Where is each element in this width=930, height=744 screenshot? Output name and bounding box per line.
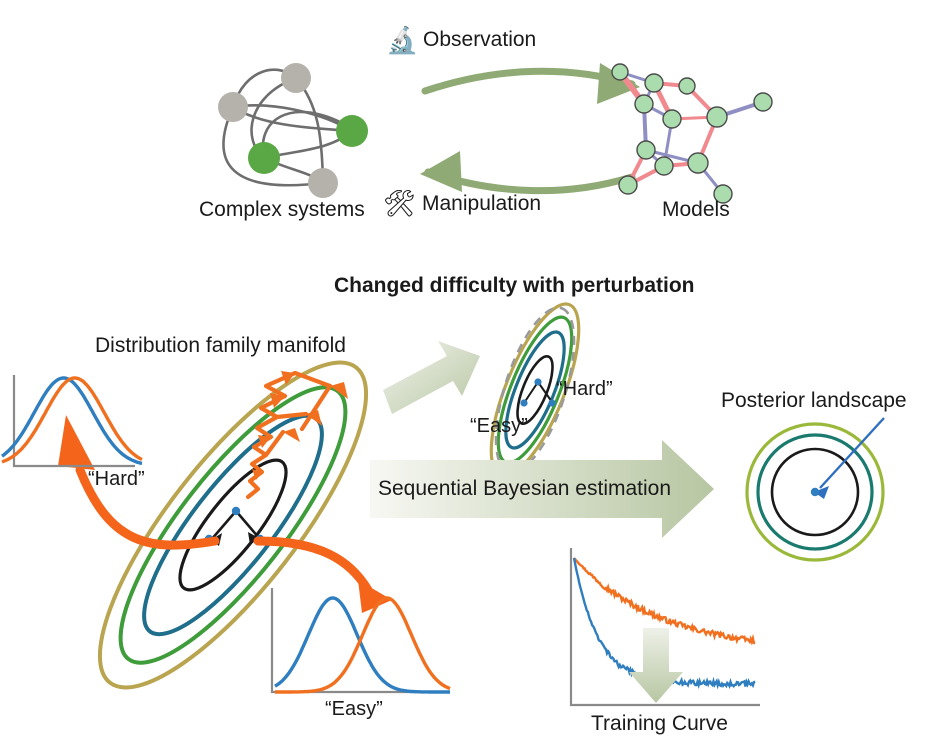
model-node — [707, 107, 727, 127]
model-node — [612, 64, 628, 80]
complex-systems-label: Complex systems — [199, 198, 365, 222]
manipulation-label: Manipulation — [422, 192, 541, 216]
bayes-arrow-label: Sequential Bayesian estimation — [378, 477, 671, 501]
manipulation-arrow — [420, 151, 632, 192]
hard-plot-label: “Hard” — [88, 468, 145, 491]
posterior-title: Posterior landscape — [721, 389, 907, 413]
perturb-point — [520, 399, 527, 406]
complex-node — [218, 92, 248, 122]
model-node — [655, 157, 673, 175]
model-node — [637, 141, 655, 159]
complex-node — [336, 115, 368, 147]
perturbation-title: Changed difficulty with perturbation — [334, 274, 695, 298]
perturbation-arrow — [383, 341, 480, 414]
perturbation-hard-label: “Hard” — [556, 378, 613, 401]
model-node — [688, 153, 708, 173]
model-node — [754, 93, 772, 111]
models-label: Models — [662, 198, 730, 222]
model-node — [663, 110, 681, 128]
model-node — [635, 95, 653, 113]
manifold-ring-green — [87, 359, 378, 691]
perturb-point — [534, 378, 541, 385]
hammer-and-wrench-icon: 🛠 — [383, 190, 416, 216]
figure-canvas: 🔬 Observation 🛠 Manipulation Complex sys… — [0, 0, 930, 744]
manifold-title: Distribution family manifold — [95, 334, 346, 358]
microscope-icon: 🔬 — [386, 27, 418, 53]
posterior-center-dot — [811, 488, 819, 496]
diagram-svg — [0, 0, 930, 744]
posterior-landscape — [747, 418, 884, 560]
model-node — [619, 176, 637, 194]
easy-plot-label: “Easy” — [325, 698, 383, 721]
training-curve-down-arrow — [629, 628, 683, 703]
complex-systems-network — [218, 63, 368, 198]
training-curve-title: Training Curve — [591, 712, 728, 736]
complex-node — [308, 168, 338, 198]
perturbation-easy-label: “Easy” — [470, 415, 528, 438]
perturb-point — [548, 399, 555, 406]
complex-node — [248, 142, 280, 174]
observation-arrow — [425, 63, 640, 104]
training-curve-plot — [571, 548, 760, 705]
complex-node — [281, 63, 311, 93]
observation-label: Observation — [423, 28, 536, 52]
complex-systems-nodes — [218, 63, 368, 198]
manifold-point — [232, 507, 240, 515]
model-node — [679, 78, 695, 94]
model-node — [645, 74, 663, 92]
